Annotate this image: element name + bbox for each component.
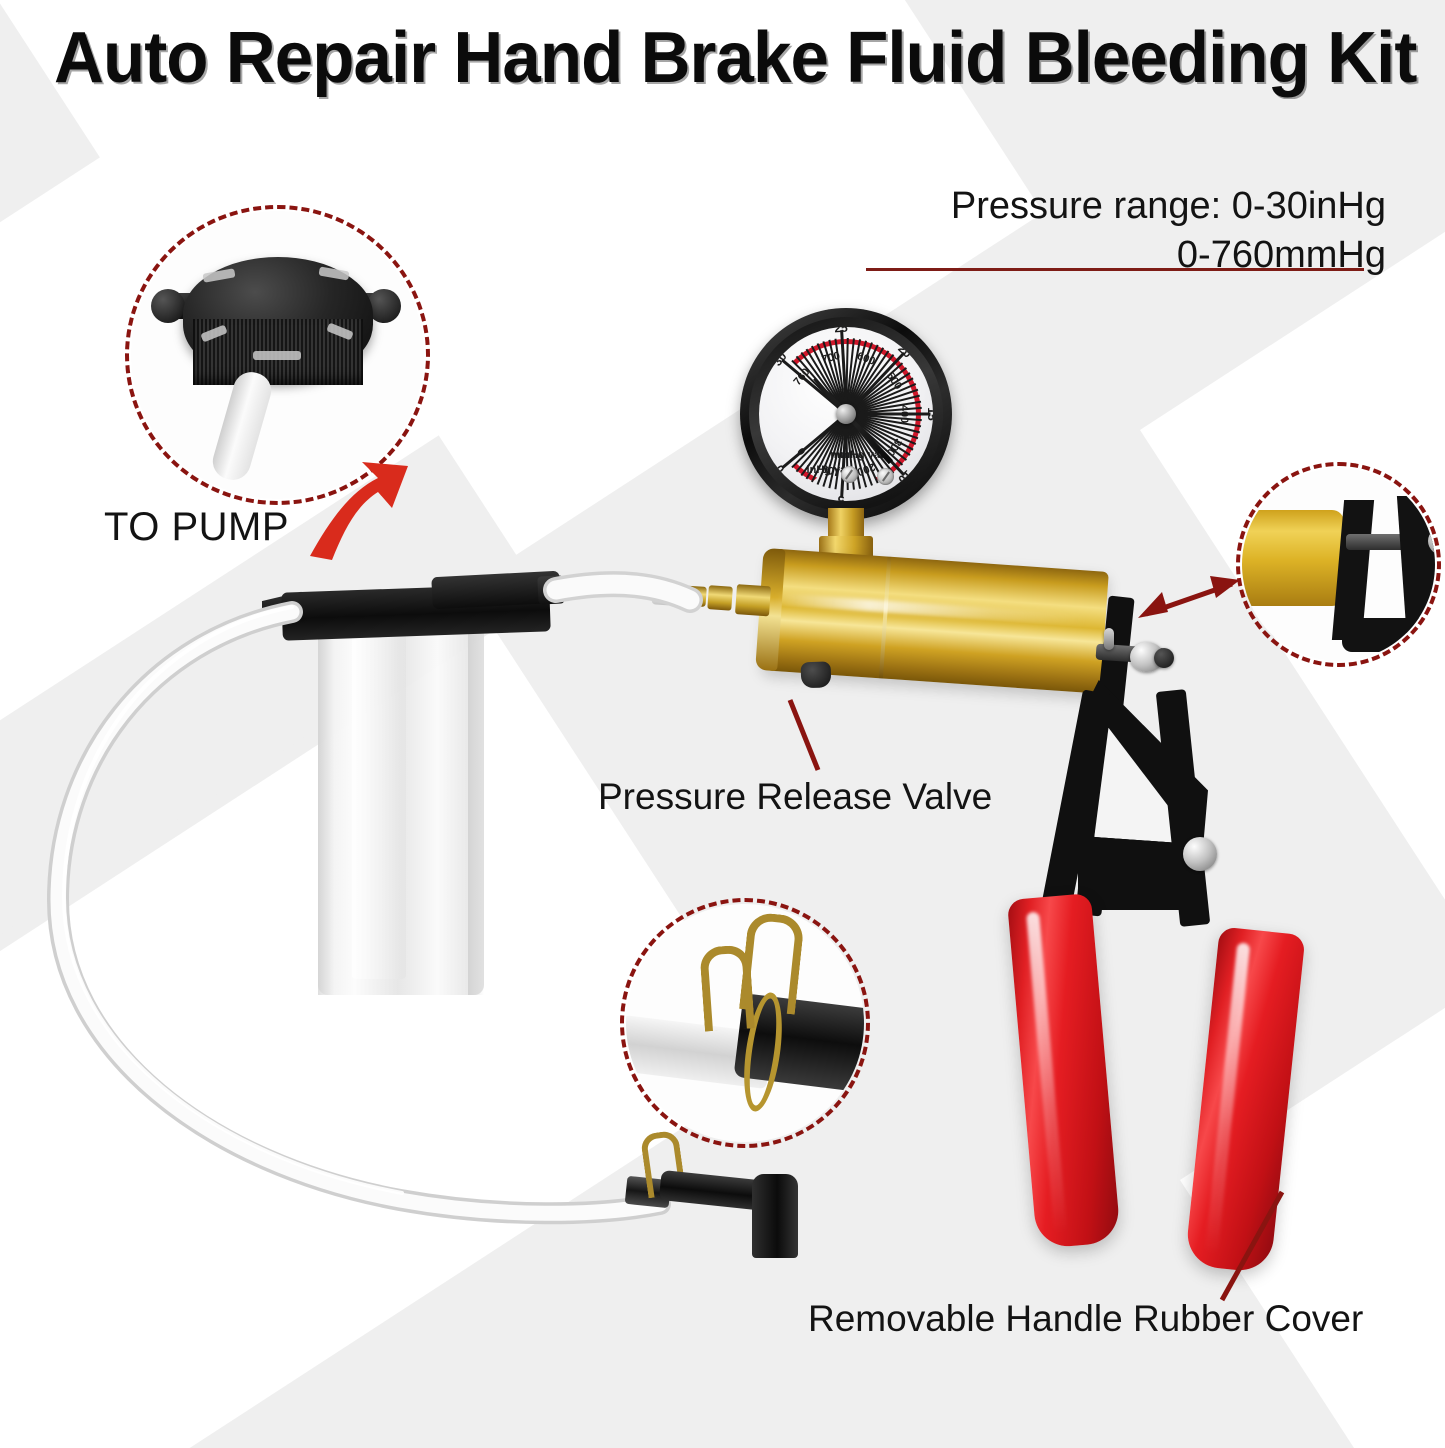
fluid-reservoir-bottle	[318, 625, 484, 995]
handle-left-body	[1007, 893, 1121, 1249]
callout-label-rubber-cover: Removable Handle Rubber Cover	[808, 1298, 1363, 1340]
spec-underline	[866, 268, 1364, 271]
callout-circle-lever	[1236, 462, 1441, 667]
handle-grip-left	[1007, 893, 1121, 1249]
bottle-edge-shade	[318, 625, 334, 995]
double-arrow-shaft	[1146, 584, 1232, 614]
callout-label-pressure-release-valve: Pressure Release Valve	[598, 776, 992, 818]
barbed-hose-fitting	[677, 580, 775, 617]
gauge-label-inhg: 15	[925, 407, 933, 420]
frame-nut-top	[1154, 648, 1174, 668]
gauge-label-inhg: 5	[837, 493, 844, 501]
gauge-screw-right	[877, 468, 894, 485]
double-arrow-head-right	[1210, 576, 1240, 598]
vacuum-pressure-gauge: 0510152025300100200300400500600700760 mm…	[740, 308, 952, 520]
pressure-range-line-1: Pressure range: 0-30inHg	[866, 182, 1386, 231]
page-title: Auto Repair Hand Brake Fluid Bleeding Ki…	[54, 22, 1360, 94]
gauge-dial-face: 0510152025300100200300400500600700760 mm…	[759, 327, 933, 501]
bleeder-adapter	[660, 1168, 820, 1264]
frame-pin	[1104, 628, 1114, 650]
gauge-label-mmhg: 400	[898, 405, 910, 423]
callout-circle-hook-clip	[620, 898, 870, 1148]
pressure-range-line-2: 0-760mmHg	[866, 231, 1386, 280]
barb-nose	[651, 582, 686, 606]
bottle-inner-tube	[352, 629, 406, 979]
pressure-release-valve-nub	[801, 661, 832, 688]
product-infographic: Auto Repair Hand Brake Fluid Bleeding Ki…	[0, 0, 1445, 1448]
gauge-needle-hub	[836, 404, 856, 424]
callout-label-to-pump: TO PUMP	[104, 505, 289, 550]
bottle-cap-nut	[537, 575, 564, 604]
brass-pump-cylinder	[761, 548, 1109, 693]
pressure-range-spec: Pressure range: 0-30inHg 0-760mmHg	[866, 182, 1386, 279]
double-arrow-head-left	[1138, 592, 1168, 618]
leader-line-release-valve	[790, 700, 818, 770]
gauge-screw-left	[841, 466, 858, 483]
bottle-edge-shade	[468, 625, 484, 995]
gauge-label-inhg: 25	[834, 327, 848, 336]
frame-bolt-pivot	[1183, 837, 1217, 871]
adapter-elbow	[752, 1174, 798, 1258]
callout-circle-reservoir-cap	[125, 205, 430, 505]
